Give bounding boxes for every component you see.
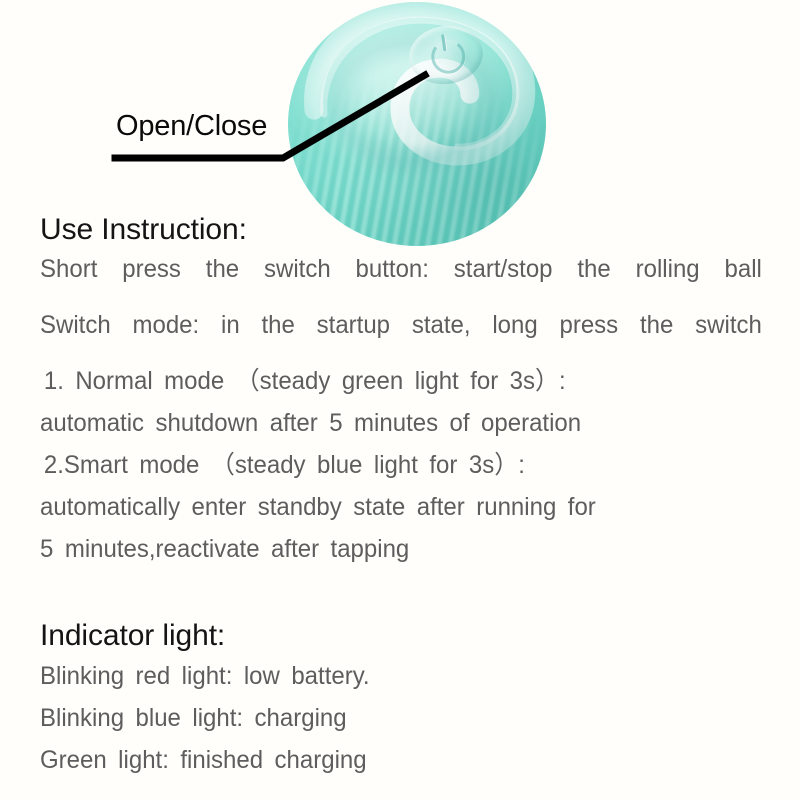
line-charging: Blinking blue light: charging [40,697,735,739]
line-mode-2-detail-a: automatically enter standby state after … [40,486,735,528]
heading-use-instruction: Use Instruction: [40,214,764,246]
word: Switch [40,304,111,346]
word: switch [695,304,762,346]
line-short-press: Short press the switch button: start/sto… [40,248,762,290]
word: press [559,304,618,346]
product-instruction-page: Open/Close Use Instruction: Short press … [0,0,800,800]
word: Short [40,248,97,290]
callout-label-open-close: Open/Close [116,112,267,141]
line-switch-mode: Switch mode: in the startup state, long … [40,304,762,346]
power-button-emboss[interactable] [406,22,487,90]
section-spacer [40,570,764,616]
word: the [261,304,294,346]
line-mode-2-detail-b: 5 minutes,reactivate after tapping [40,528,735,570]
ball-body [288,2,546,246]
word: in [221,304,240,346]
line-mode-2-title: 2.Smart mode （steady blue light for 3s）: [40,444,735,486]
line-mode-1-title: 1. Normal mode （steady green light for 3… [40,360,735,402]
indicator-light-lines: Blinking red light: low battery. Blinkin… [40,655,764,781]
heading-indicator-light: Indicator light: [40,620,764,652]
word: start/stop [454,248,553,290]
word: mode: [132,304,199,346]
word: button: [356,248,429,290]
word: startup [317,304,390,346]
word: the [577,248,610,290]
line-finished-charging: Green light: finished charging [40,739,735,781]
word: ball [724,248,761,290]
instruction-content: Use Instruction: Short press the switch … [40,214,764,781]
word: state, [412,304,471,346]
word: long [492,304,537,346]
word: press [122,248,181,290]
use-instruction-lines: Short press the switch button: start/sto… [40,248,764,570]
word: rolling [636,248,700,290]
word: the [640,304,673,346]
spacer [40,290,764,304]
word: switch [264,248,331,290]
spacer [40,346,764,360]
line-low-battery: Blinking red light: low battery. [40,655,735,697]
product-image-rolling-ball [288,2,546,246]
word: the [206,248,239,290]
line-mode-1-detail: automatic shutdown after 5 minutes of op… [40,402,735,444]
